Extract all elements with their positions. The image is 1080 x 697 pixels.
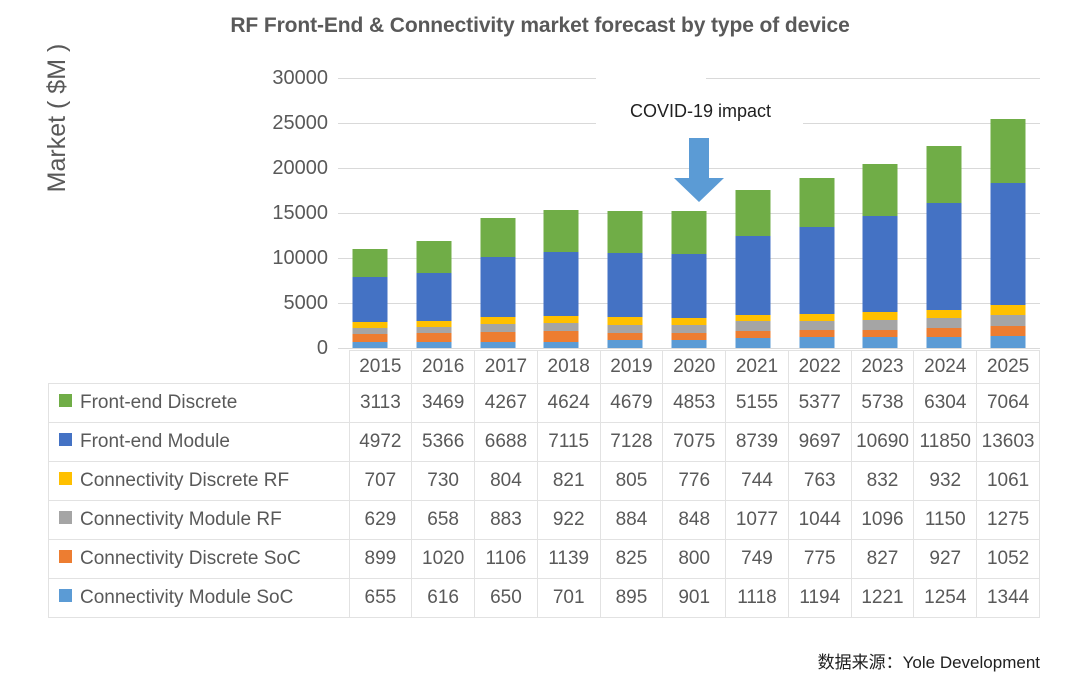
bar-segment (480, 218, 515, 256)
bar-segment (863, 164, 898, 216)
table-row: Front-end Discrete3113346942674624467948… (49, 384, 1040, 423)
stacked-bar (863, 164, 898, 348)
bar-group-2017 (466, 78, 530, 348)
bar-segment (671, 340, 706, 348)
table-cell: 827 (851, 540, 914, 579)
bar-segment (480, 317, 515, 324)
legend-label: Connectivity Discrete SoC (80, 548, 301, 569)
stacked-bar (927, 146, 962, 348)
bar-group-2025 (976, 78, 1040, 348)
table-row: Front-end Module497253666688711571287075… (49, 423, 1040, 462)
bar-segment (608, 211, 643, 253)
bar-segment (991, 119, 1026, 183)
table-cell: 3469 (412, 384, 475, 423)
table-cell: 1052 (977, 540, 1040, 579)
bar-segment (544, 342, 579, 348)
y-axis-tick: 10000 (238, 248, 328, 268)
stacked-bar (991, 119, 1026, 348)
table-column-header: 2017 (475, 351, 538, 384)
bar-segment (863, 330, 898, 337)
bar-segment (416, 273, 451, 321)
legend-color-swatch (59, 472, 72, 485)
bar-segment (352, 249, 387, 277)
bar-segment (416, 333, 451, 342)
stacked-bar (799, 178, 834, 348)
table-column-header: 2015 (349, 351, 412, 384)
bar-segment (863, 337, 898, 348)
table-column-header: 2024 (914, 351, 977, 384)
bar-segment (991, 183, 1026, 305)
bar-segment (799, 178, 834, 226)
stacked-bar (416, 241, 451, 348)
stacked-bar (735, 190, 770, 348)
bar-segment (608, 340, 643, 348)
table-cell: 5155 (726, 384, 789, 423)
bar-segment (544, 331, 579, 341)
table-cell: 707 (349, 462, 412, 501)
bar-segment (927, 146, 962, 203)
legend-label: Front-end Discrete (80, 392, 237, 413)
table-cell: 805 (600, 462, 663, 501)
table-column-header: 2020 (663, 351, 726, 384)
table-cell: 1150 (914, 501, 977, 540)
table-cell: 7075 (663, 423, 726, 462)
table-cell: 1139 (537, 540, 600, 579)
table-cell: 763 (788, 462, 851, 501)
table-corner-cell (49, 351, 350, 384)
bar-segment (544, 316, 579, 323)
stacked-bar (352, 249, 387, 348)
table-row: Connectivity Discrete SoC899102011061139… (49, 540, 1040, 579)
bar-segment (927, 328, 962, 336)
table-cell: 13603 (977, 423, 1040, 462)
bar-segment (352, 342, 387, 348)
legend-entry: Connectivity Module SoC (49, 579, 350, 618)
bar-segment (608, 325, 643, 333)
bar-segment (352, 334, 387, 342)
table-column-header: 2025 (977, 351, 1040, 384)
table-cell: 1020 (412, 540, 475, 579)
table-cell: 744 (726, 462, 789, 501)
table-cell: 650 (475, 579, 538, 618)
bar-segment (927, 203, 962, 310)
bar-segment (735, 315, 770, 322)
table-cell: 1077 (726, 501, 789, 540)
y-axis-tick: 30000 (238, 68, 328, 88)
table-cell: 899 (349, 540, 412, 579)
bar-segment (799, 321, 834, 330)
bar-segment (927, 310, 962, 318)
table-cell: 901 (663, 579, 726, 618)
bar-segment (863, 320, 898, 330)
bar-segment (671, 211, 706, 255)
stacked-bar (544, 210, 579, 348)
table-cell: 5738 (851, 384, 914, 423)
table-cell: 884 (600, 501, 663, 540)
table-cell: 848 (663, 501, 726, 540)
bar-group-2018 (529, 78, 593, 348)
y-axis-tick: 5000 (238, 293, 328, 313)
table-cell: 7115 (537, 423, 600, 462)
bar-segment (416, 241, 451, 272)
table-cell: 1254 (914, 579, 977, 618)
table-cell: 775 (788, 540, 851, 579)
stacked-bar (480, 218, 515, 348)
table-cell: 6304 (914, 384, 977, 423)
table-column-header: 2016 (412, 351, 475, 384)
bar-segment (991, 315, 1026, 326)
bar-segment (671, 318, 706, 325)
bar-segment (544, 323, 579, 331)
bar-segment (927, 337, 962, 348)
bar-segment (735, 321, 770, 331)
bar-group-2015 (338, 78, 402, 348)
bar-segment (735, 190, 770, 236)
bar-segment (735, 331, 770, 338)
table-cell: 3113 (349, 384, 412, 423)
stacked-bar (608, 211, 643, 348)
table-cell: 1096 (851, 501, 914, 540)
table-column-header: 2022 (788, 351, 851, 384)
y-axis-tick: 15000 (238, 203, 328, 223)
legend-label: Connectivity Module RF (80, 509, 282, 530)
table-cell: 616 (412, 579, 475, 618)
table-cell: 749 (726, 540, 789, 579)
bar-group-2024 (912, 78, 976, 348)
legend-label: Connectivity Discrete RF (80, 470, 289, 491)
table-cell: 800 (663, 540, 726, 579)
table-cell: 832 (851, 462, 914, 501)
table-row: Connectivity Discrete RF7077308048218057… (49, 462, 1040, 501)
bar-segment (799, 227, 834, 314)
gridline (338, 348, 1040, 349)
y-axis-tick: 25000 (238, 113, 328, 133)
bar-segment (927, 318, 962, 328)
table-cell: 4679 (600, 384, 663, 423)
table-cell: 4853 (663, 384, 726, 423)
legend-entry: Front-end Module (49, 423, 350, 462)
legend-entry: Connectivity Module RF (49, 501, 350, 540)
table-cell: 701 (537, 579, 600, 618)
legend-color-swatch (59, 511, 72, 524)
bar-segment (991, 336, 1026, 348)
table-cell: 776 (663, 462, 726, 501)
table-cell: 4972 (349, 423, 412, 462)
table-cell: 4267 (475, 384, 538, 423)
covid-annotation-label: COVID-19 impact (598, 98, 803, 127)
bar-segment (991, 326, 1026, 335)
table-cell: 932 (914, 462, 977, 501)
table-cell: 5377 (788, 384, 851, 423)
table-cell: 883 (475, 501, 538, 540)
bar-segment (608, 253, 643, 317)
bar-segment (735, 338, 770, 348)
table-cell: 6688 (475, 423, 538, 462)
table-cell: 8739 (726, 423, 789, 462)
table-cell: 821 (537, 462, 600, 501)
bar-group-2016 (402, 78, 466, 348)
bar-segment (799, 330, 834, 337)
table-cell: 895 (600, 579, 663, 618)
table-cell: 655 (349, 579, 412, 618)
table-row: Connectivity Module SoC65561665070189590… (49, 579, 1040, 618)
table-cell: 730 (412, 462, 475, 501)
bar-segment (416, 342, 451, 348)
table-column-header: 2018 (537, 351, 600, 384)
legend-entry: Connectivity Discrete SoC (49, 540, 350, 579)
legend-color-swatch (59, 589, 72, 602)
legend-label: Front-end Module (80, 431, 230, 452)
legend-color-swatch (59, 394, 72, 407)
table-row: Connectivity Module RF629658883922884848… (49, 501, 1040, 540)
bar-segment (671, 325, 706, 333)
down-arrow-icon (668, 138, 730, 204)
legend-entry: Connectivity Discrete RF (49, 462, 350, 501)
table-cell: 1221 (851, 579, 914, 618)
table-cell: 9697 (788, 423, 851, 462)
bar-segment (671, 254, 706, 318)
bar-segment (863, 312, 898, 319)
table-cell: 629 (349, 501, 412, 540)
y-axis-tick-labels: 300002500020000150001000050000 (238, 0, 328, 360)
chart-plot: 300002500020000150001000050000 COVID-19 … (0, 0, 1080, 360)
table-cell: 1118 (726, 579, 789, 618)
table-cell: 1106 (475, 540, 538, 579)
bar-segment (608, 333, 643, 340)
legend-label: Connectivity Module SoC (80, 587, 293, 608)
legend-color-swatch (59, 433, 72, 446)
bar-segment (863, 216, 898, 312)
table-cell: 1194 (788, 579, 851, 618)
bar-segment (480, 342, 515, 348)
bar-group-2023 (849, 78, 913, 348)
table-cell: 1044 (788, 501, 851, 540)
bar-segment (671, 333, 706, 340)
table-cell: 11850 (914, 423, 977, 462)
table-column-header: 2019 (600, 351, 663, 384)
table-cell: 1061 (977, 462, 1040, 501)
bar-segment (799, 337, 834, 348)
table-cell: 658 (412, 501, 475, 540)
table-column-header: 2021 (726, 351, 789, 384)
table-cell: 922 (537, 501, 600, 540)
table-cell: 7064 (977, 384, 1040, 423)
bar-segment (735, 236, 770, 315)
table-cell: 825 (600, 540, 663, 579)
bar-segment (352, 277, 387, 322)
bar-segment (991, 305, 1026, 315)
y-axis-tick: 20000 (238, 158, 328, 178)
table-header-row: 2015201620172018201920202021202220232024… (49, 351, 1040, 384)
table-cell: 5366 (412, 423, 475, 462)
bar-segment (480, 324, 515, 332)
table-cell: 7128 (600, 423, 663, 462)
data-table: 2015201620172018201920202021202220232024… (48, 350, 1040, 618)
table-cell: 4624 (537, 384, 600, 423)
bar-segment (544, 210, 579, 252)
bar-segment (544, 252, 579, 316)
legend-color-swatch (59, 550, 72, 563)
stacked-bar (671, 211, 706, 348)
table-column-header: 2023 (851, 351, 914, 384)
table-cell: 1275 (977, 501, 1040, 540)
table-cell: 804 (475, 462, 538, 501)
table-cell: 1344 (977, 579, 1040, 618)
bar-segment (608, 317, 643, 324)
source-note: 数据来源：Yole Development (818, 648, 1040, 673)
bar-segment (480, 257, 515, 317)
legend-entry: Front-end Discrete (49, 384, 350, 423)
bar-segment (480, 332, 515, 342)
bar-segment (799, 314, 834, 321)
table-cell: 927 (914, 540, 977, 579)
table-cell: 10690 (851, 423, 914, 462)
